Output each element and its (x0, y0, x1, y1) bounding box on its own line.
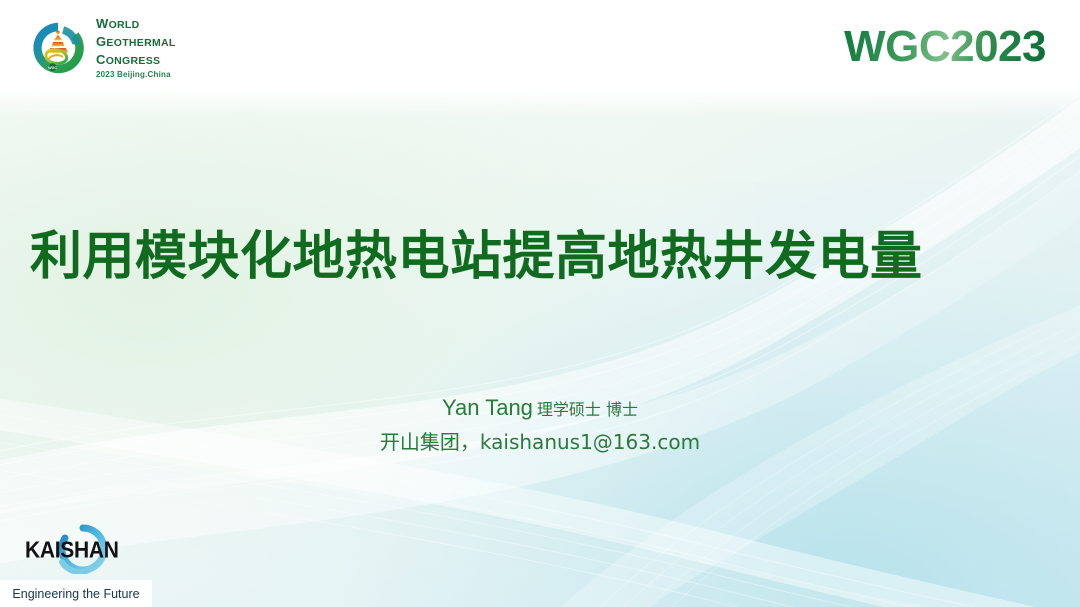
author-name: Yan Tang (442, 395, 533, 420)
kaishan-tagline-band: Engineering the Future (0, 580, 152, 607)
wgc-logo-line-world: WORLD (96, 16, 176, 32)
wgc-logo-wordmark: WORLD GEOTHERMAL CONGRESS 2023 Beijing.C… (96, 16, 176, 79)
kaishan-wordmark: KAISHAN (25, 538, 119, 564)
wgc-logo-line-congress: CONGRESS (96, 52, 176, 68)
author-affiliation-email: 开山集团，kaishanus1@163.com (0, 426, 1080, 458)
wgc-congress-logo: WGC WORLD GEOTHERMAL CONGRESS 2023 Beiji… (28, 16, 176, 79)
author-block: Yan Tang理学硕士 博士 开山集团，kaishanus1@163.com (0, 393, 1080, 458)
wgc-emblem-icon: WGC (28, 18, 88, 78)
kaishan-tagline: Engineering the Future (12, 587, 139, 601)
kaishan-logo: KAISHAN (18, 524, 148, 574)
svg-text:WGC: WGC (48, 66, 57, 70)
wgc2023-wordmark: WGC2023 (844, 22, 1046, 72)
presentation-slide: WGC WORLD GEOTHERMAL CONGRESS 2023 Beiji… (0, 0, 1080, 607)
header-fade (0, 88, 1080, 118)
wgc-logo-subtitle: 2023 Beijing.China (96, 71, 176, 79)
page-title: 利用模块化地热电站提高地热井发电量 (30, 214, 923, 289)
author-line-name: Yan Tang理学硕士 博士 (0, 393, 1080, 426)
wgc-logo-line-geothermal: GEOTHERMAL (96, 34, 176, 50)
author-degree: 理学硕士 博士 (537, 400, 638, 419)
